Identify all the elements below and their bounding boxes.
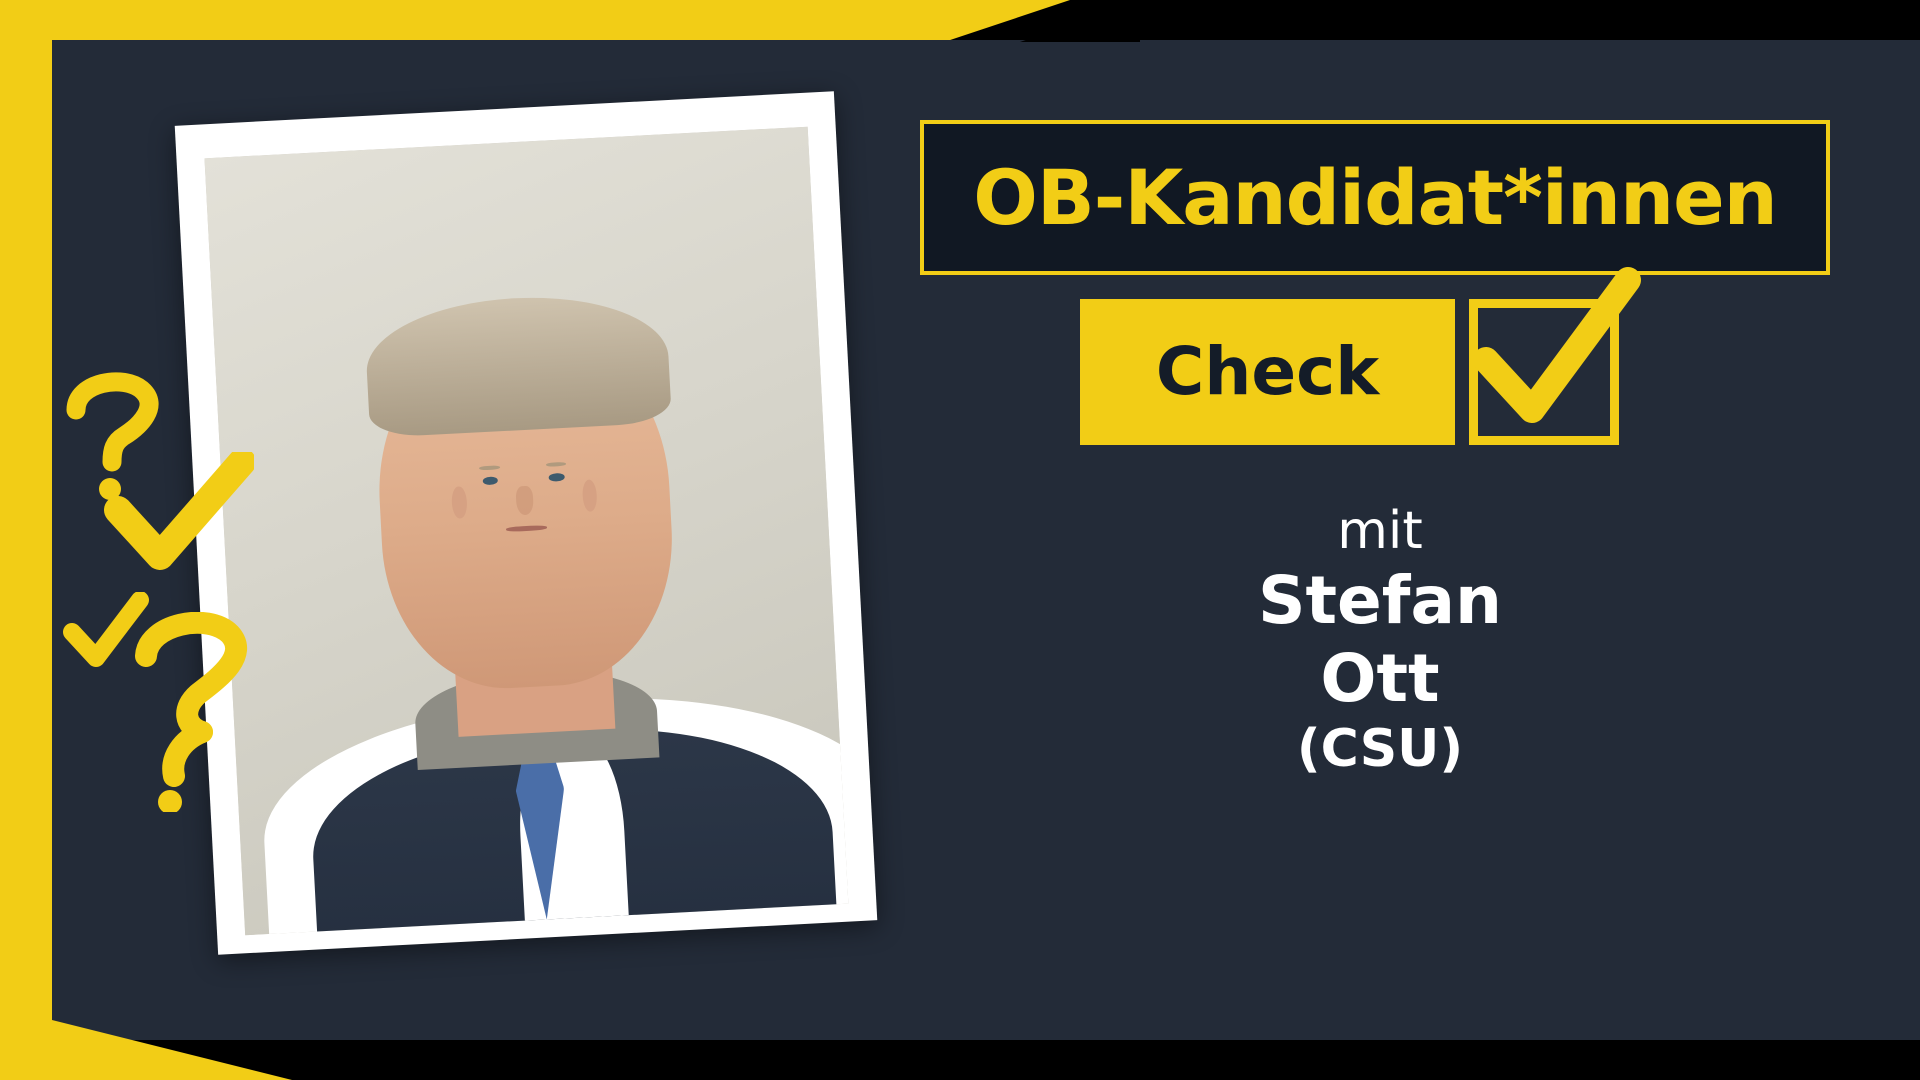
subject-hair [363, 290, 672, 438]
top-yellow-band [0, 0, 1070, 40]
poster-canvas: OB-Kandidat*innen Check mit Stefan Ott (… [0, 0, 1920, 1080]
portrait-photo [175, 91, 878, 954]
credit-party: (CSU) [1010, 718, 1750, 781]
title-box: OB-Kandidat*innen [920, 120, 1830, 275]
check-label-pill: Check [1080, 299, 1455, 445]
portrait-subject [204, 127, 848, 936]
checkmark-icon [1460, 264, 1645, 449]
question-mark-small-icon [130, 612, 260, 812]
subject-nose [515, 486, 534, 515]
subject-mouth [506, 525, 547, 532]
subject-ear-left [452, 486, 468, 519]
checkbox-box[interactable] [1469, 299, 1619, 445]
right-content-column: OB-Kandidat*innen Check mit Stefan Ott (… [900, 120, 1880, 782]
credit-last-name: Ott [1010, 640, 1750, 718]
subject-ear-right [582, 479, 598, 512]
subject-brow-right [546, 461, 566, 467]
checkmark-large-icon [104, 452, 254, 572]
subject-eye-left [483, 476, 498, 485]
check-badge: Check [1080, 299, 1650, 445]
subject-eye-right [549, 473, 564, 482]
credit-first-name: Stefan [1010, 562, 1750, 640]
credit-prefix: mit [1010, 501, 1750, 562]
credits-block: mit Stefan Ott (CSU) [1010, 501, 1750, 782]
left-yellow-strip [0, 0, 52, 1080]
page-title: OB-Kandidat*innen [973, 160, 1777, 236]
subject-brow-left [479, 465, 499, 471]
check-label: Check [1156, 339, 1379, 405]
photo-image [204, 127, 848, 936]
